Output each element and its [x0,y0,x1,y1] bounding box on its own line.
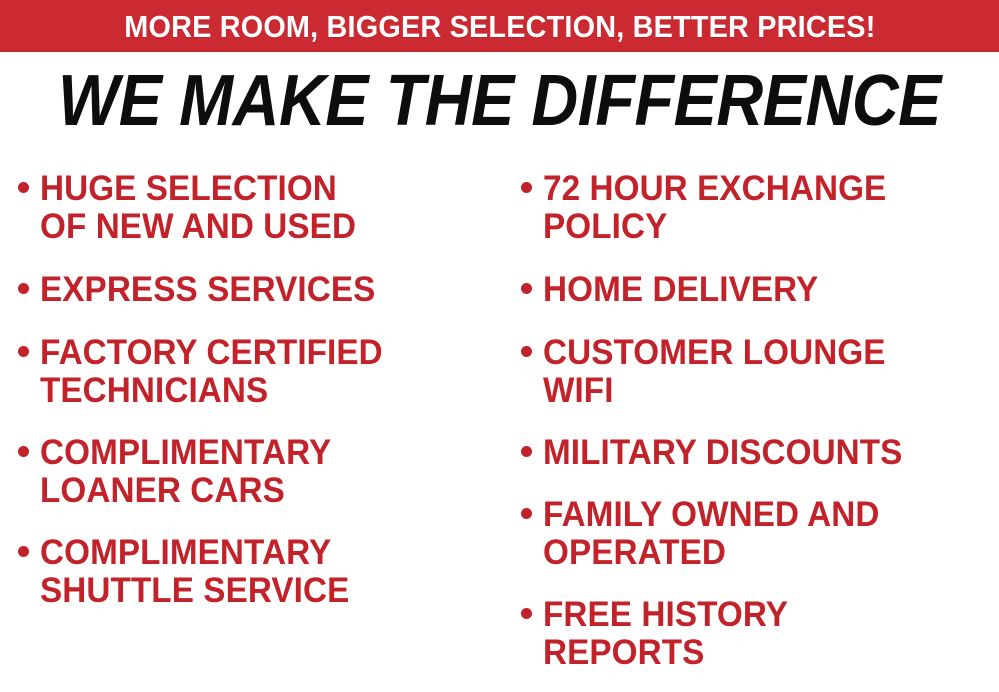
features-column-right: 72 HOUR EXCHANGEPOLICY HOME DELIVERY CUS… [521,150,999,672]
feature-item-label: HOME DELIVERY [543,271,976,309]
bullet-dot-icon [18,271,40,309]
feature-item-label: COMPLIMENTARYLOANER CARS [40,434,475,510]
features-columns: HUGE SELECTIONOF NEW AND USED EXPRESS SE… [0,150,999,692]
bullet-dot-icon [521,170,543,208]
bullet-dot-icon [521,496,543,534]
promo-banner: MORE ROOM, BIGGER SELECTION, BETTER PRIC… [0,0,999,52]
feature-item: HOME DELIVERY [521,271,999,309]
bullet-dot-icon [521,334,543,372]
feature-item-label: FAMILY OWNED ANDOPERATED [543,496,976,572]
feature-item-label: CUSTOMER LOUNGEWIFI [543,334,976,410]
feature-item: COMPLIMENTARYSHUTTLE SERVICE [18,534,498,610]
bullet-dot-icon [521,596,543,634]
feature-item-label: FREE HISTORYREPORTS [543,596,976,672]
feature-item: EXPRESS SERVICES [18,271,498,309]
feature-item: FACTORY CERTIFIEDTECHNICIANS [18,334,498,410]
headline-container: WE MAKE THE DIFFERENCE [0,58,999,144]
feature-item: HUGE SELECTIONOF NEW AND USED [18,170,498,246]
feature-item-label: COMPLIMENTARYSHUTTLE SERVICE [40,534,475,610]
feature-item-label: FACTORY CERTIFIEDTECHNICIANS [40,334,475,410]
promo-banner-text: MORE ROOM, BIGGER SELECTION, BETTER PRIC… [124,11,875,42]
bullet-dot-icon [521,271,543,309]
feature-item: COMPLIMENTARYLOANER CARS [18,434,498,510]
feature-item-label: MILITARY DISCOUNTS [543,434,976,472]
bullet-dot-icon [18,534,40,572]
feature-item-label: 72 HOUR EXCHANGEPOLICY [543,170,976,246]
bullet-dot-icon [18,170,40,208]
bullet-dot-icon [18,334,40,372]
bullet-dot-icon [521,434,543,472]
bullet-dot-icon [18,434,40,472]
feature-item: CUSTOMER LOUNGEWIFI [521,334,999,410]
feature-item-label: EXPRESS SERVICES [40,271,475,309]
feature-item-label: HUGE SELECTIONOF NEW AND USED [40,170,475,246]
page-title: WE MAKE THE DIFFERENCE [58,65,941,137]
feature-item: FAMILY OWNED ANDOPERATED [521,496,999,572]
feature-item: MILITARY DISCOUNTS [521,434,999,472]
feature-item: 72 HOUR EXCHANGEPOLICY [521,170,999,246]
feature-item: FREE HISTORYREPORTS [521,596,999,672]
features-column-left: HUGE SELECTIONOF NEW AND USED EXPRESS SE… [18,150,498,610]
